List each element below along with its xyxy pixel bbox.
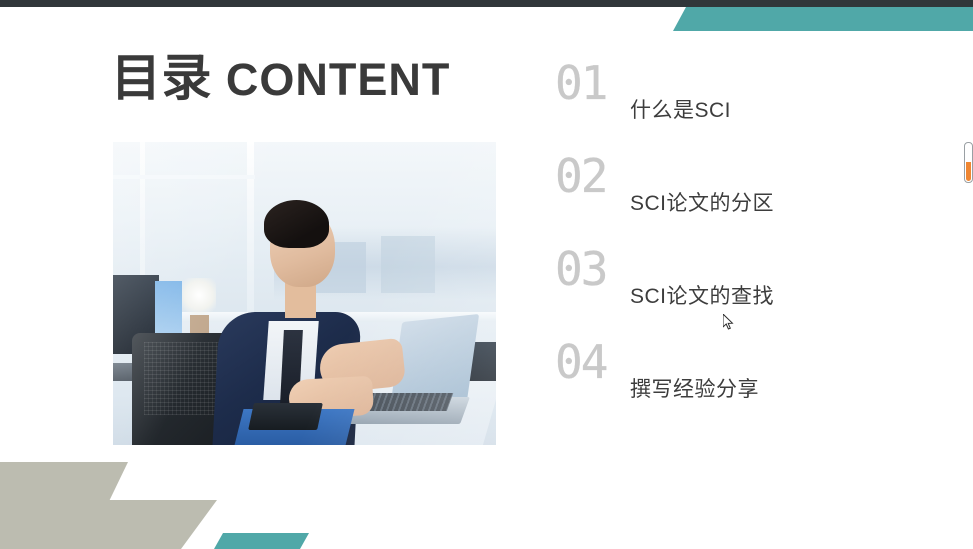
list-item-number: 03 — [555, 246, 606, 292]
photo-notebook — [248, 403, 323, 430]
list-item[interactable]: 02 SCI论文的分区 — [555, 153, 955, 246]
page-title: 目录 CONTENT — [111, 48, 450, 109]
scrollbar[interactable] — [964, 142, 973, 183]
list-item[interactable]: 01 什么是SCI — [555, 60, 955, 153]
list-item-label[interactable]: SCI论文的查找 — [630, 280, 774, 310]
list-item-label[interactable]: 什么是SCI — [630, 94, 731, 124]
photo-window-mullion — [247, 142, 254, 318]
top-teal-parallelogram-decoration — [673, 7, 973, 31]
list-item-label[interactable]: SCI论文的分区 — [630, 187, 774, 217]
list-item[interactable]: 03 SCI论文的查找 — [555, 246, 955, 339]
scrollbar-thumb[interactable] — [966, 162, 971, 181]
photo-window-header — [113, 175, 255, 179]
list-item-label[interactable]: 撰写经验分享 — [630, 373, 759, 403]
content-list: 01 什么是SCI 02 SCI论文的分区 03 SCI论文的查找 04 撰写经… — [555, 60, 955, 432]
list-item-number: 04 — [555, 339, 606, 385]
photo-chair-mesh — [144, 342, 224, 415]
list-item-number: 01 — [555, 60, 606, 106]
bottom-teal-parallelogram — [214, 533, 309, 549]
mouse-cursor-icon — [723, 314, 735, 332]
photo-building-right — [381, 236, 435, 294]
top-dark-bar-decoration — [0, 0, 973, 7]
photo-person-hair — [264, 200, 329, 248]
page-title-english: CONTENT — [226, 54, 451, 105]
list-item[interactable]: 04 撰写经验分享 — [555, 339, 955, 432]
list-item-number: 02 — [555, 153, 606, 199]
page-title-chinese: 目录 — [111, 50, 212, 106]
office-photo — [113, 142, 496, 445]
presentation-slide: 目录 CONTENT 01 — [0, 0, 973, 549]
